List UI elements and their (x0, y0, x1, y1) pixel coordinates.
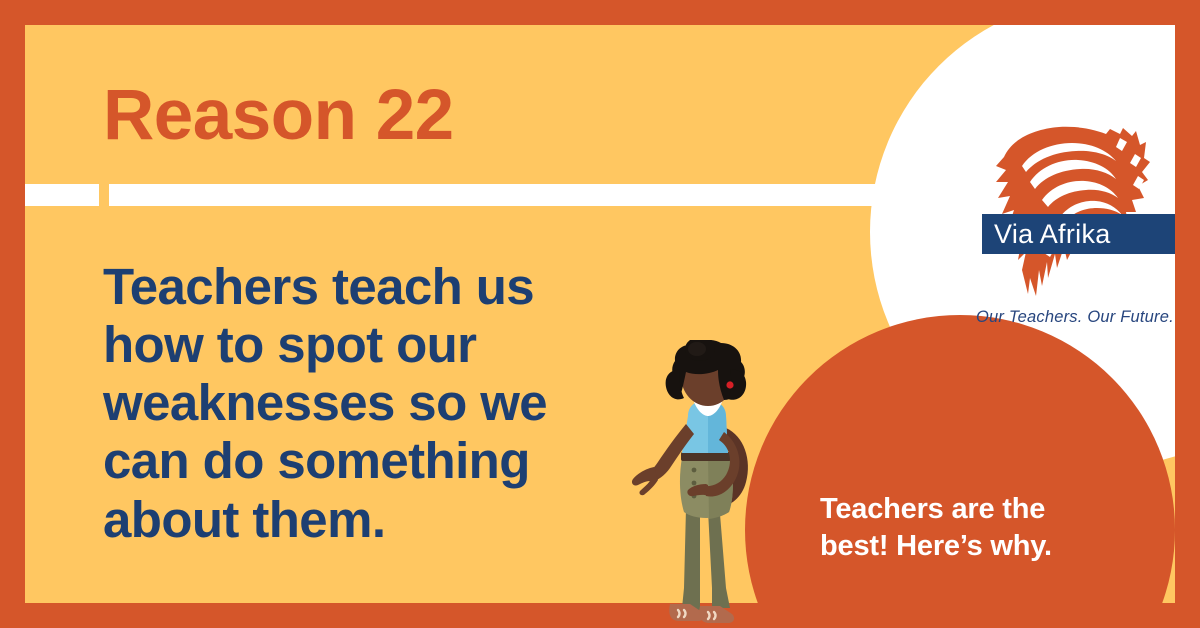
divider-rule-short (25, 184, 99, 206)
poster-canvas: Reason 22 Teachers teach us how to spot … (0, 0, 1200, 628)
standing-schoolgirl-illustration (620, 340, 800, 628)
poster-headline: Teachers teach us how to spot our weakne… (103, 258, 623, 549)
call-to-action-text: Teachers are the best! Here’s why. (820, 491, 1120, 565)
divider-rule-long (109, 184, 909, 206)
logo-wordmark: Via Afrika (982, 214, 1175, 254)
africa-brushstroke-icon (960, 120, 1160, 305)
logo-tagline: Our Teachers. Our Future. (976, 308, 1174, 327)
poster-inner-panel: Reason 22 Teachers teach us how to spot … (25, 25, 1175, 603)
reason-label: Reason 22 (103, 80, 454, 151)
via-afrika-logo: Via Afrika Our Teachers. Our Future. (960, 120, 1175, 335)
